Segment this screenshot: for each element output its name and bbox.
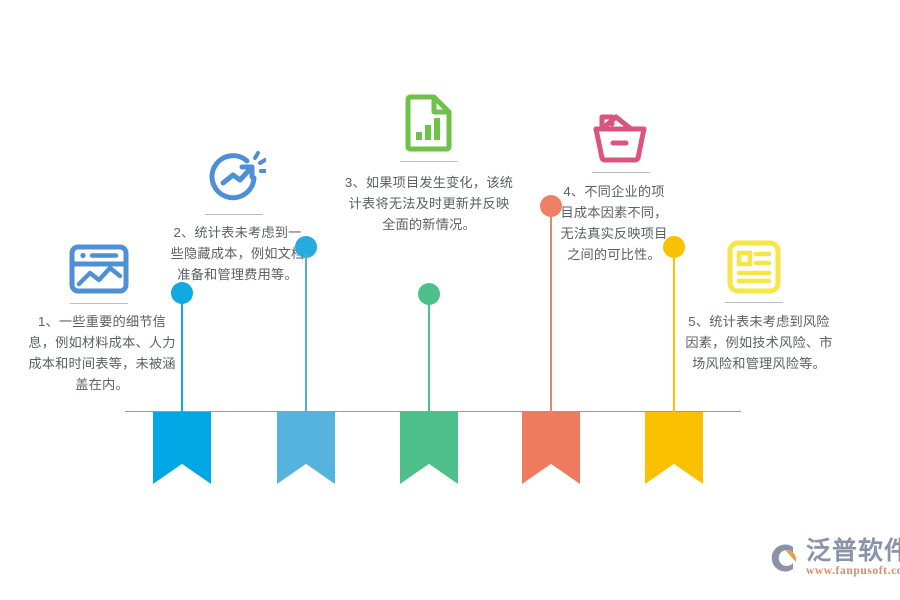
item-text-1: 1、一些重要的细节信息，例如材料成本、人力成本和时间表等，未被涵盖在内。 [28, 311, 176, 395]
timeline-stem-3 [428, 301, 430, 412]
timeline-stem-4 [550, 213, 552, 412]
divider-rule-4 [592, 172, 650, 173]
circle-arrow-growth-icon [206, 150, 266, 206]
timeline-ribbon-2 [277, 412, 335, 484]
timeline-ribbon-5 [645, 412, 703, 484]
item-text-2: 2、统计表未考虑到一些隐藏成本，例如文档准备和管理费用等。 [170, 222, 305, 285]
logo-mark-icon [768, 541, 802, 575]
timeline-stem-5 [673, 254, 675, 412]
timeline-ribbon-1 [153, 412, 211, 484]
window-chart-icon [68, 243, 130, 295]
item-text-5: 5、统计表未考虑到风险因素，例如技术风险、市场风险和管理风险等。 [683, 311, 835, 374]
divider-rule-1 [70, 303, 128, 304]
timeline-ribbon-3 [400, 412, 458, 484]
item-text-3: 3、如果项目发生变化，该统计表将无法及时更新并反映全面的新情况。 [344, 172, 514, 235]
logo-company-name: 泛普软件 [806, 538, 900, 564]
article-layout-icon [726, 240, 782, 294]
divider-rule-3 [400, 161, 458, 162]
document-bar-chart-icon [404, 94, 454, 152]
divider-rule-5 [725, 302, 783, 303]
timeline-baseline [125, 411, 741, 412]
timeline-stem-1 [181, 300, 183, 412]
timeline-stem-2 [305, 254, 307, 412]
infographic-canvas: 1、一些重要的细节信息，例如材料成本、人力成本和时间表等，未被涵盖在内。 2、统… [0, 0, 900, 600]
divider-rule-2 [205, 214, 263, 215]
item-text-4: 4、不同企业的项目成本因素不同，无法真实反映项目之间的可比性。 [560, 181, 668, 265]
logo-website-url: www.fanpusoft.com [806, 565, 900, 577]
basket-icon [590, 112, 650, 164]
brand-logo: 泛普软件 www.fanpusoft.com [768, 538, 900, 577]
timeline-ribbon-4 [522, 412, 580, 484]
